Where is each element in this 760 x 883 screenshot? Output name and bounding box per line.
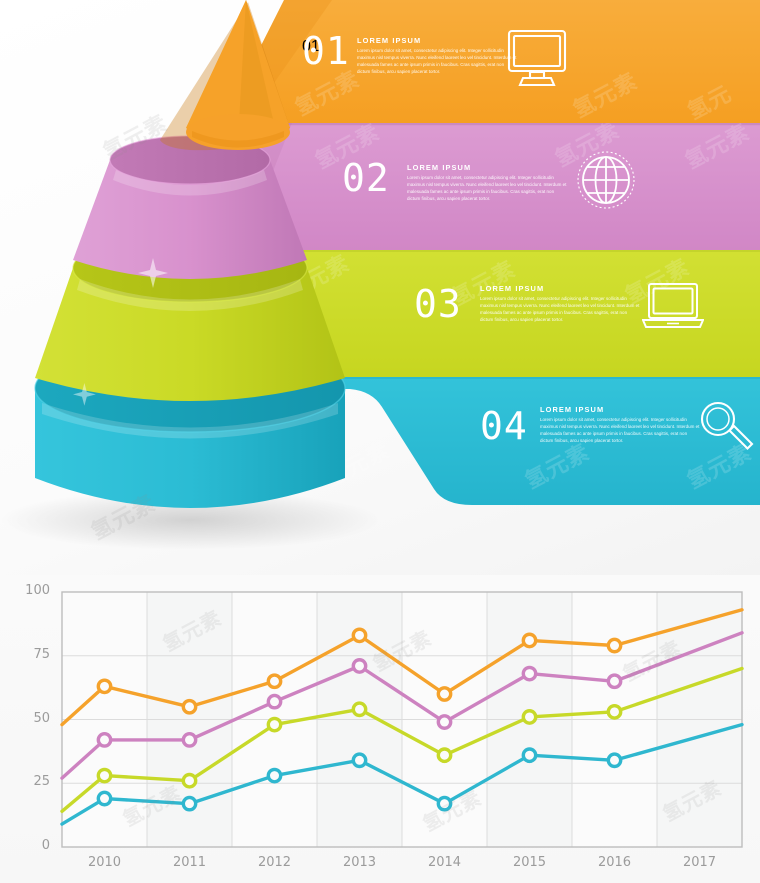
y-axis-tick-label: 75	[8, 647, 50, 662]
data-point[interactable]	[268, 695, 280, 707]
band-04-body: Lorem ipsum dolor sit amet, consectetur …	[540, 417, 700, 445]
data-point[interactable]	[353, 629, 365, 641]
data-point[interactable]	[523, 749, 535, 761]
x-axis-tick-label: 2014	[415, 855, 475, 870]
data-point[interactable]	[353, 660, 365, 672]
data-point[interactable]	[268, 718, 280, 730]
y-axis-tick-label: 25	[8, 774, 50, 789]
data-point[interactable]	[608, 754, 620, 766]
data-point[interactable]	[98, 680, 110, 692]
data-point[interactable]	[98, 769, 110, 781]
data-point[interactable]	[353, 754, 365, 766]
data-point[interactable]	[608, 706, 620, 718]
data-point[interactable]	[353, 703, 365, 715]
x-axis-tick-label: 2015	[500, 855, 560, 870]
globe-icon	[574, 148, 638, 212]
data-point[interactable]	[523, 634, 535, 646]
data-point[interactable]	[608, 639, 620, 651]
y-axis-tick-label: 100	[8, 583, 50, 598]
data-point[interactable]	[98, 734, 110, 746]
x-axis-tick-label: 2016	[585, 855, 645, 870]
magnifier-icon	[696, 397, 756, 457]
laptop-icon	[642, 282, 704, 330]
data-point[interactable]	[438, 749, 450, 761]
data-point[interactable]	[98, 792, 110, 804]
band-04-number-text: 04	[480, 404, 528, 448]
infographic-page: 01 01 LOREM IPSUM Lorem ipsum dolor sit …	[0, 0, 760, 883]
x-axis-tick-label: 2013	[330, 855, 390, 870]
pyramid-infographic-section: 01 01 LOREM IPSUM Lorem ipsum dolor sit …	[0, 0, 760, 575]
data-point[interactable]	[438, 688, 450, 700]
desktop-monitor-icon	[506, 28, 568, 88]
x-axis-tick-label: 2011	[160, 855, 220, 870]
data-point[interactable]	[438, 716, 450, 728]
band-03-title: LOREM IPSUM	[480, 284, 640, 293]
x-axis-tick-label: 2017	[670, 855, 730, 870]
line-chart: 氢元素 氢元素 氢元素 氢元素 氢元素 氢元素 0255075100201020…	[0, 575, 760, 883]
band-03-body: Lorem ipsum dolor sit amet, consectetur …	[480, 296, 640, 324]
x-axis-tick-label: 2010	[75, 855, 135, 870]
data-point[interactable]	[523, 711, 535, 723]
cone-pyramid	[0, 0, 470, 560]
data-point[interactable]	[523, 667, 535, 679]
y-axis-tick-label: 0	[8, 838, 50, 853]
data-point[interactable]	[183, 734, 195, 746]
chart-canvas	[0, 575, 760, 883]
data-point[interactable]	[268, 675, 280, 687]
data-point[interactable]	[438, 797, 450, 809]
data-point[interactable]	[183, 797, 195, 809]
data-point[interactable]	[183, 701, 195, 713]
band-04-title: LOREM IPSUM	[540, 405, 700, 414]
data-point[interactable]	[183, 775, 195, 787]
x-axis-tick-label: 2012	[245, 855, 305, 870]
data-point[interactable]	[608, 675, 620, 687]
y-axis-tick-label: 50	[8, 711, 50, 726]
data-point[interactable]	[268, 769, 280, 781]
